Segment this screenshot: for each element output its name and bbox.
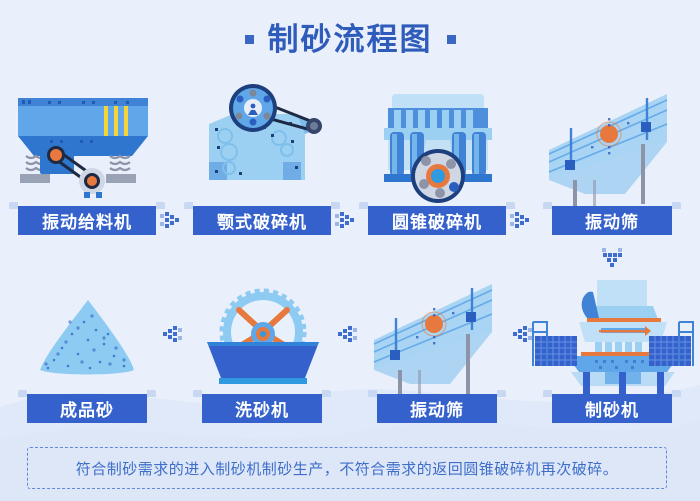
page-title: 制砂流程图 <box>0 18 700 60</box>
banner-tail-left <box>9 202 18 209</box>
label-banner-vibrating-feeder[interactable]: 振动给料机 <box>18 202 156 235</box>
label-text: 颚式破碎机 <box>193 206 331 235</box>
label-text: 圆锥破碎机 <box>368 206 506 235</box>
banner-tail-left <box>359 202 368 209</box>
label-banner-sand-washing-machine[interactable]: 洗砂机 <box>202 390 322 423</box>
label-text: 成品砂 <box>27 394 147 423</box>
page-title-text: 制砂流程图 <box>268 24 433 55</box>
banner-tail-right <box>672 202 681 209</box>
flow-step-sand-washing-machine[interactable]: 洗砂机 <box>175 262 350 422</box>
flowchart-canvas: 制砂流程图 <box>0 0 700 501</box>
flow-step-vibrating-feeder[interactable]: 振动给料机 <box>0 72 175 232</box>
flow-step-finished-sand[interactable]: 成品砂 <box>0 262 175 422</box>
flow-step-sand-making-machine[interactable]: 制砂机 <box>525 262 700 422</box>
flow-step-cone-crusher[interactable]: 圆锥破碎机 <box>350 72 525 232</box>
banner-tail-right <box>497 390 506 397</box>
label-banner-cone-crusher[interactable]: 圆锥破碎机 <box>368 202 506 235</box>
finished-sand-pile-icon <box>0 274 175 392</box>
footer-note: 符合制砂需求的进入制砂机制砂生产，不符合需求的返回圆锥破碎机再次破碎。 <box>27 447 667 489</box>
label-text: 振动给料机 <box>18 206 156 235</box>
label-banner-vibrating-screen-bottom[interactable]: 振动筛 <box>377 390 497 423</box>
sand-making-machine-icon <box>525 274 700 392</box>
banner-tail-left <box>184 202 193 209</box>
label-text: 制砂机 <box>552 394 672 423</box>
label-banner-vibrating-screen-top[interactable]: 振动筛 <box>552 202 672 235</box>
label-text: 振动筛 <box>552 206 672 235</box>
label-text: 振动筛 <box>377 394 497 423</box>
sand-washing-machine-icon <box>175 274 350 392</box>
label-text: 洗砂机 <box>202 394 322 423</box>
banner-tail-left <box>543 202 552 209</box>
flow-step-vibrating-screen-bottom[interactable]: 振动筛 <box>350 262 525 422</box>
square-bullet-icon-right <box>447 35 456 44</box>
square-bullet-icon-left <box>245 35 254 44</box>
label-banner-jaw-crusher[interactable]: 颚式破碎机 <box>193 202 331 235</box>
vibrating-screen-icon <box>525 84 700 202</box>
banner-tail-left <box>193 390 202 397</box>
jaw-crusher-icon <box>175 84 350 202</box>
flow-step-jaw-crusher[interactable]: 颚式破碎机 <box>175 72 350 232</box>
vibrating-feeder-icon <box>0 84 175 202</box>
footer-note-text: 符合制砂需求的进入制砂机制砂生产，不符合需求的返回圆锥破碎机再次破碎。 <box>76 458 619 479</box>
banner-tail-left <box>18 390 27 397</box>
label-banner-sand-making-machine[interactable]: 制砂机 <box>552 390 672 423</box>
vibrating-screen-icon <box>350 274 525 392</box>
flow-row-2: 成品砂 <box>0 262 700 422</box>
flow-step-vibrating-screen-top[interactable]: 振动筛 <box>525 72 700 232</box>
flow-row-1: 振动给料机 <box>0 72 700 232</box>
banner-tail-left <box>368 390 377 397</box>
banner-tail-right <box>672 390 681 397</box>
banner-tail-right <box>322 390 331 397</box>
banner-tail-right <box>147 390 156 397</box>
label-banner-finished-sand[interactable]: 成品砂 <box>27 390 147 423</box>
banner-tail-left <box>543 390 552 397</box>
cone-crusher-icon <box>350 84 525 202</box>
